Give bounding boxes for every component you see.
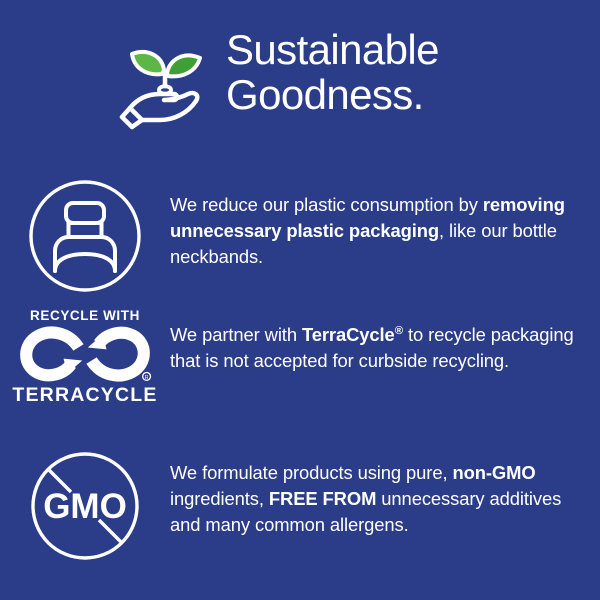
svg-text:R: R xyxy=(145,375,149,381)
page-title-line-1: Sustainable xyxy=(226,26,439,73)
header: Sustainable Goodness. xyxy=(0,26,600,136)
no-gmo-circle-icon: GMO xyxy=(27,448,143,564)
benefit-text-gmo-part-2: ingredients, xyxy=(170,488,269,509)
benefit-text-plastic-part-0: We reduce our plastic consumption by xyxy=(170,194,483,215)
page-title-line-2: Goodness. xyxy=(226,73,439,118)
terracycle-bottom-label: TERRACYCLE xyxy=(12,384,157,407)
benefit-text-terracycle: We partner with TerraCycle® to recycle p… xyxy=(170,312,600,374)
benefit-icon-container: RECYCLE WITH R TERRACYCLE xyxy=(0,312,170,407)
benefit-text-plastic: We reduce our plastic consumption by rem… xyxy=(170,178,600,270)
benefit-row-plastic: We reduce our plastic consumption by rem… xyxy=(0,178,600,294)
benefit-icon-container: GMO xyxy=(0,448,170,564)
plastic-bottle-circle-icon xyxy=(27,178,143,294)
benefit-text-gmo-part-3: FREE FROM xyxy=(269,488,376,509)
benefit-row-gmo: GMO We formulate products using pure, no… xyxy=(0,448,600,564)
benefit-text-gmo-part-1: non-GMO xyxy=(452,462,535,483)
terracycle-top-label: RECYCLE WITH xyxy=(30,308,140,323)
benefit-text-terracycle-brand: TerraCycle® xyxy=(302,324,403,345)
benefit-row-terracycle: RECYCLE WITH R TERRACYCLE We partner wit… xyxy=(0,312,600,407)
gmo-label: GMO xyxy=(43,487,127,526)
hand-holding-sprout-icon xyxy=(118,32,218,132)
terracycle-logo: RECYCLE WITH R TERRACYCLE xyxy=(10,308,160,407)
brand-name: TerraCycle xyxy=(302,324,395,345)
benefit-text-terracycle-part-0: We partner with xyxy=(170,324,302,345)
benefit-text-gmo-part-0: We formulate products using pure, xyxy=(170,462,452,483)
benefit-icon-container xyxy=(0,178,170,294)
registered-mark: ® xyxy=(395,325,403,337)
infinity-recycle-icon: R xyxy=(15,325,155,383)
page-title: Sustainable Goodness. xyxy=(226,26,439,117)
benefit-text-gmo: We formulate products using pure, non-GM… xyxy=(170,448,600,538)
